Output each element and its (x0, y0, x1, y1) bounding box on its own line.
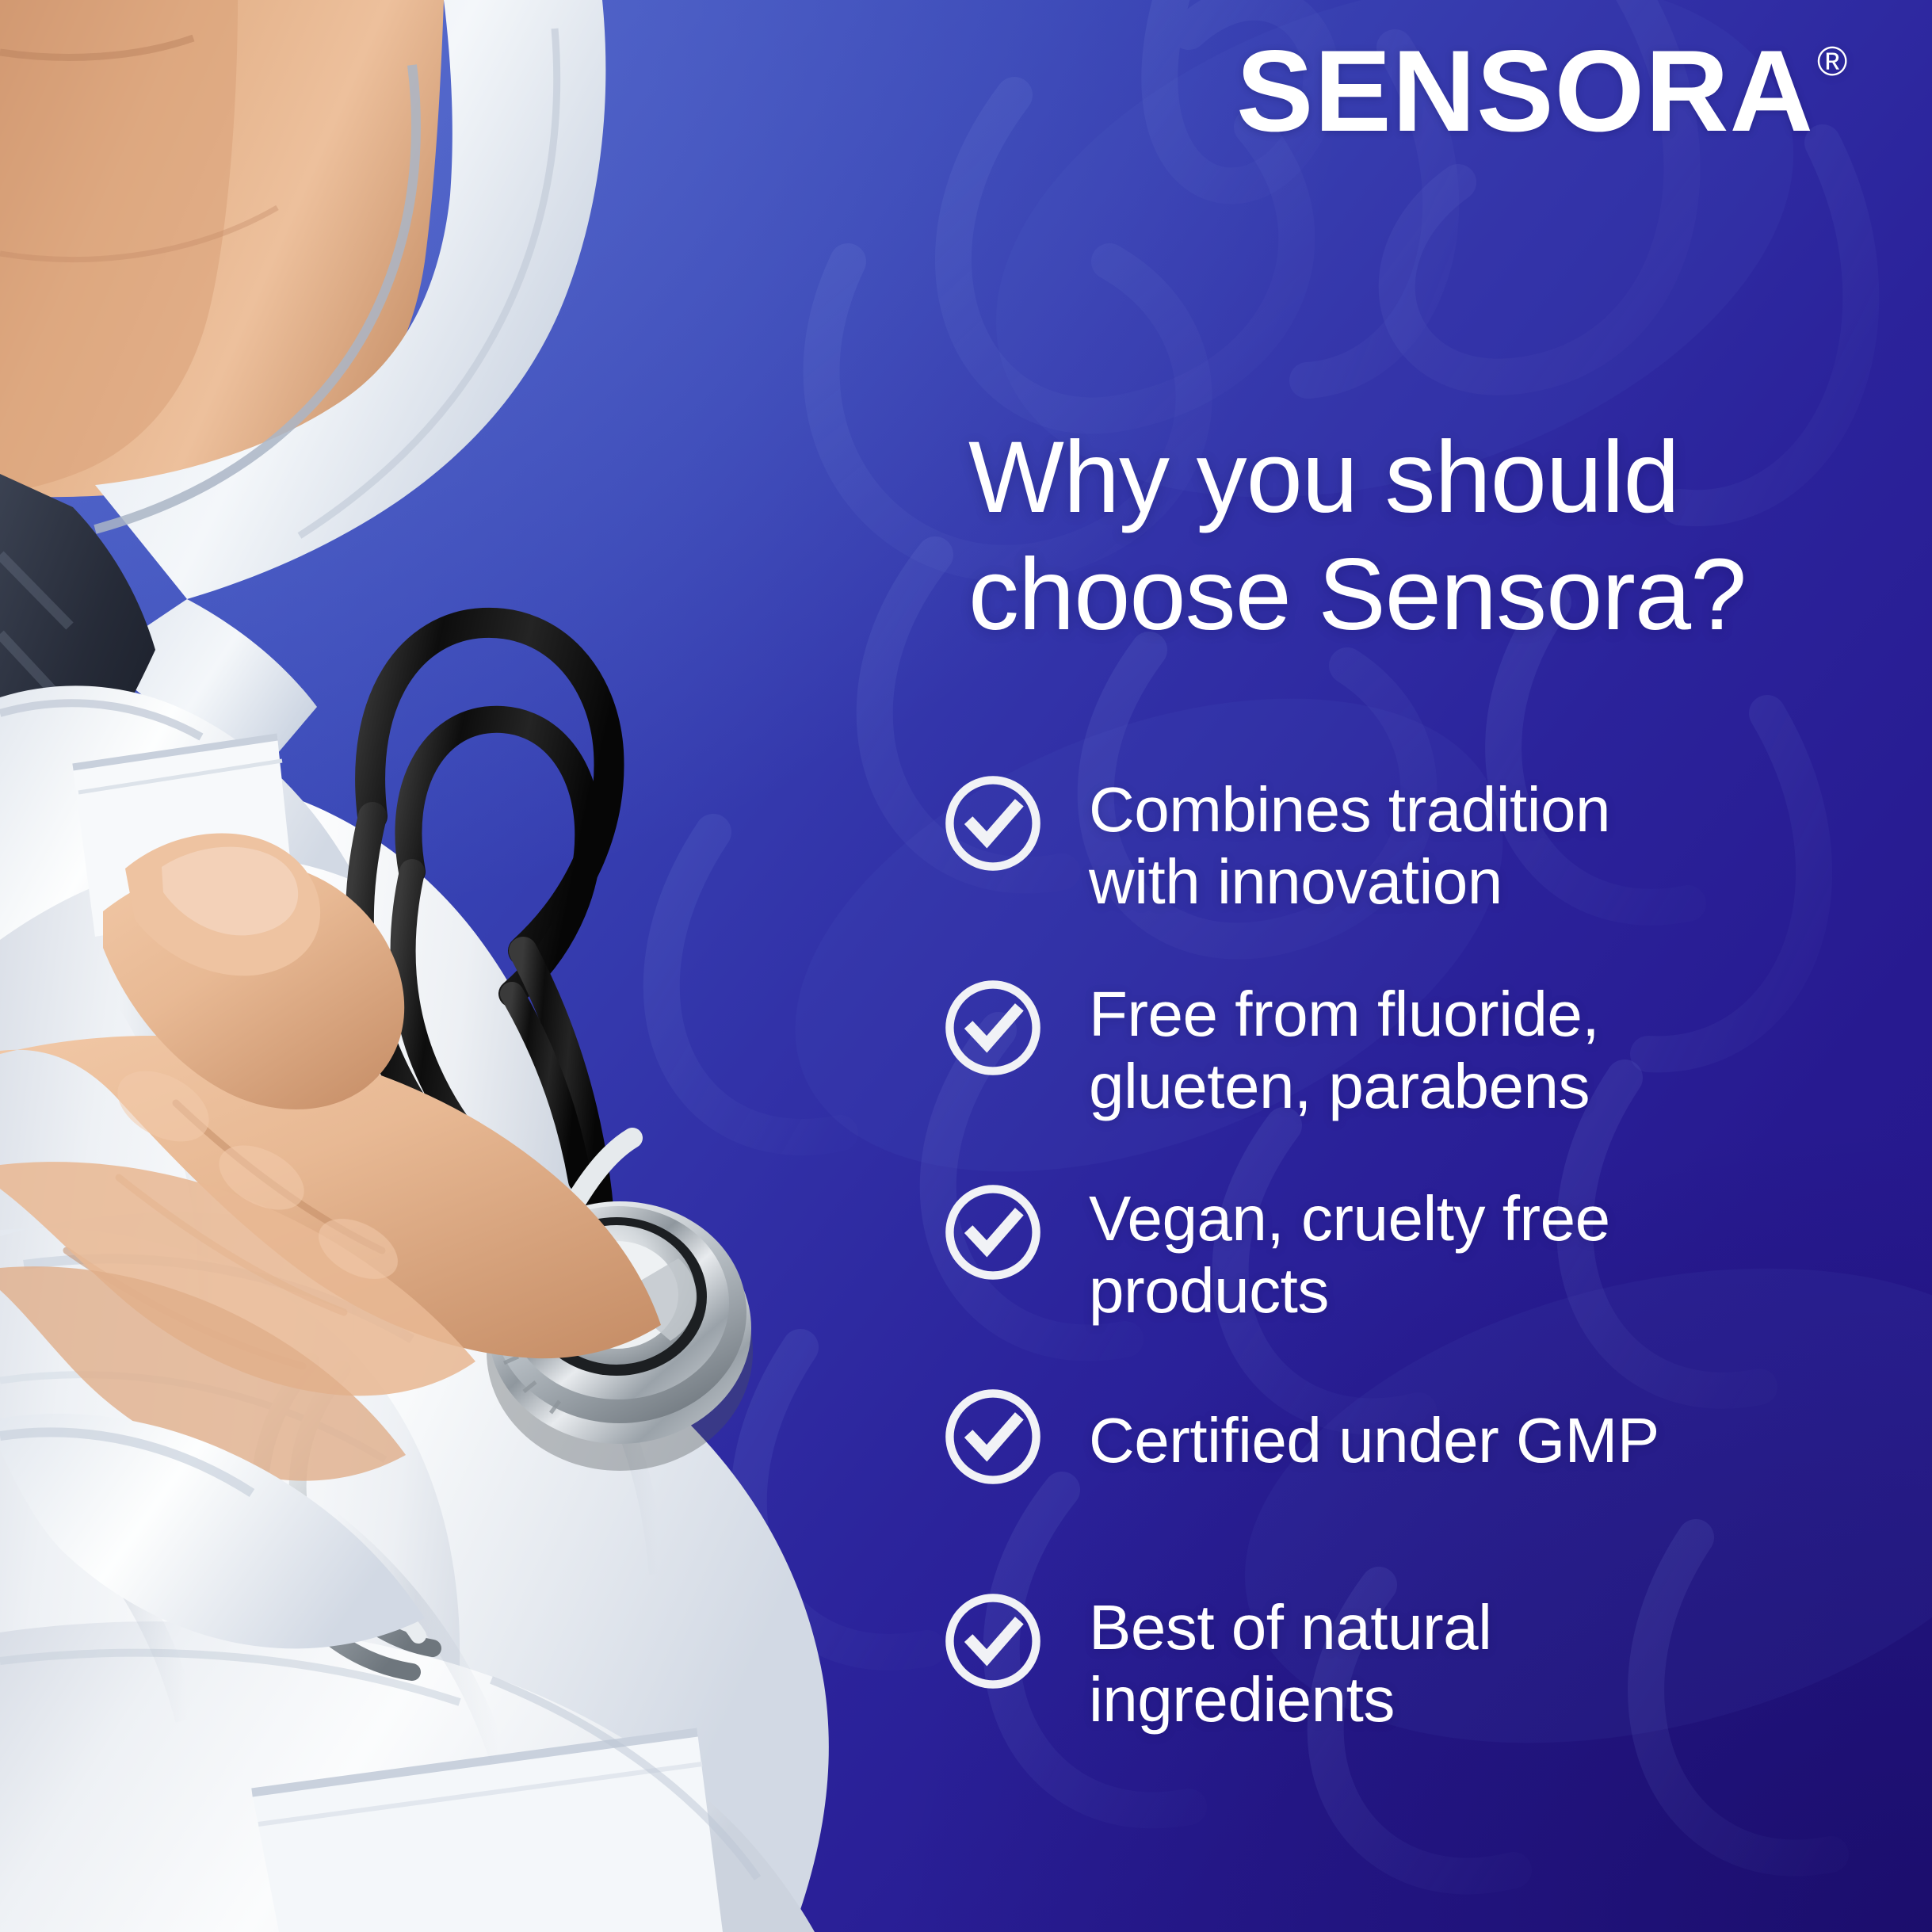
benefit-text: Vegan, cruelty free products (1089, 1176, 1610, 1327)
check-circle-icon (941, 1181, 1044, 1284)
headline-line-2: choose Sensora? (968, 536, 1903, 654)
check-circle-icon (941, 1385, 1044, 1488)
check-circle-icon (941, 976, 1044, 1079)
check-circle-icon (941, 772, 1044, 875)
benefit-line-2: glueten, parabens (1089, 1050, 1599, 1122)
doctor-photo (0, 0, 959, 1932)
benefits-list: Combines tradition with innovation Free … (941, 767, 1877, 1789)
benefit-line-2: ingredients (1089, 1663, 1491, 1735)
headline-line-1: Why you should (968, 419, 1903, 536)
benefit-text: Combines tradition with innovation (1089, 767, 1610, 918)
registered-trademark-icon: ® (1817, 41, 1847, 82)
benefit-text: Certified under GMP (1089, 1380, 1659, 1476)
benefit-line-1: Combines tradition (1089, 773, 1610, 846)
list-item: Best of natural ingredients (941, 1585, 1877, 1789)
benefit-line-1: Certified under GMP (1089, 1404, 1659, 1476)
benefit-text: Best of natural ingredients (1089, 1585, 1491, 1735)
benefit-line-1: Best of natural (1089, 1591, 1491, 1663)
benefit-line-2: with innovation (1089, 846, 1610, 918)
benefit-line-2: products (1089, 1254, 1610, 1327)
list-item: Free from fluoride, glueten, parabens (941, 972, 1877, 1176)
benefit-line-1: Vegan, cruelty free (1089, 1182, 1610, 1254)
brand-logo[interactable]: SENSORA ® (1236, 33, 1847, 149)
list-item: Certified under GMP (941, 1380, 1877, 1585)
list-item: Combines tradition with innovation (941, 767, 1877, 972)
page-title: Why you should choose Sensora? (968, 419, 1903, 655)
benefit-text: Free from fluoride, glueten, parabens (1089, 972, 1599, 1122)
benefit-line-1: Free from fluoride, (1089, 978, 1599, 1050)
list-item: Vegan, cruelty free products (941, 1176, 1877, 1380)
brand-logo-text: SENSORA (1236, 33, 1814, 149)
promo-canvas: SENSORA ® Why you should choose Sensora?… (0, 0, 1932, 1932)
check-circle-icon (941, 1590, 1044, 1693)
